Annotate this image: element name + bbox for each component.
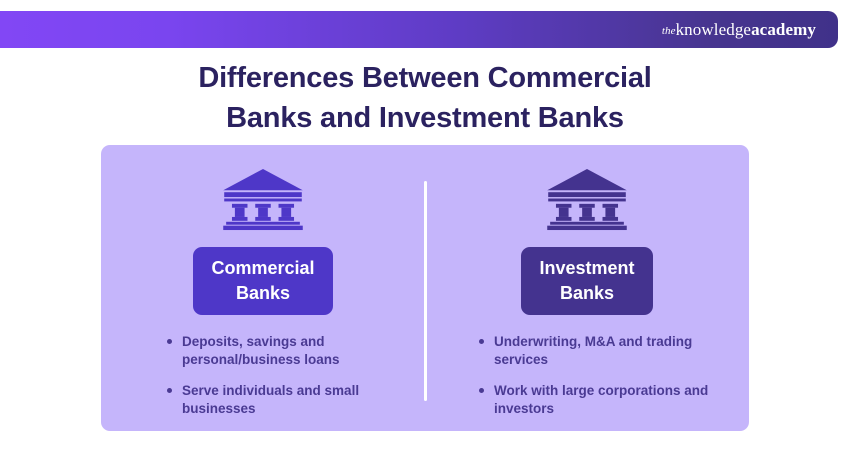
list-item: Work with large corporations and investo…	[479, 382, 737, 418]
bullet-list-investment-banks: Underwriting, M&A and trading services W…	[425, 333, 749, 431]
badge-investment-banks-line-2: Banks	[560, 283, 614, 303]
bullet-list-commercial-banks: Deposits, savings and personal/business …	[101, 333, 425, 431]
badge-commercial-banks-line-1: Commercial	[211, 258, 314, 278]
badge-commercial-banks: Commercial Banks	[193, 247, 332, 315]
comparison-card: Commercial Banks Deposits, savings and p…	[101, 145, 749, 431]
brand-logo-knowledge: knowledge	[676, 20, 752, 40]
brand-logo: theknowledgeacademy	[662, 20, 816, 40]
badge-investment-banks-line-1: Investment	[539, 258, 634, 278]
list-item: Underwriting, M&A and trading services	[479, 333, 737, 369]
header-bar: theknowledgeacademy	[0, 11, 838, 48]
bank-building-icon	[220, 167, 306, 231]
badge-investment-banks: Investment Banks	[521, 247, 652, 315]
list-item: Deposits, savings and personal/business …	[167, 333, 409, 369]
list-item: Serve individuals and small businesses	[167, 382, 409, 418]
column-divider	[424, 181, 427, 401]
badge-commercial-banks-line-2: Banks	[236, 283, 290, 303]
brand-logo-the: the	[662, 25, 676, 37]
page-title-line-1: Differences Between Commercial	[0, 58, 850, 98]
brand-logo-academy: academy	[751, 20, 816, 40]
column-investment-banks: Investment Banks Underwriting, M&A and t…	[425, 145, 749, 431]
bank-building-icon	[544, 167, 630, 231]
column-commercial-banks: Commercial Banks Deposits, savings and p…	[101, 145, 425, 431]
page-title: Differences Between Commercial Banks and…	[0, 58, 850, 138]
page-title-line-2: Banks and Investment Banks	[0, 98, 850, 138]
